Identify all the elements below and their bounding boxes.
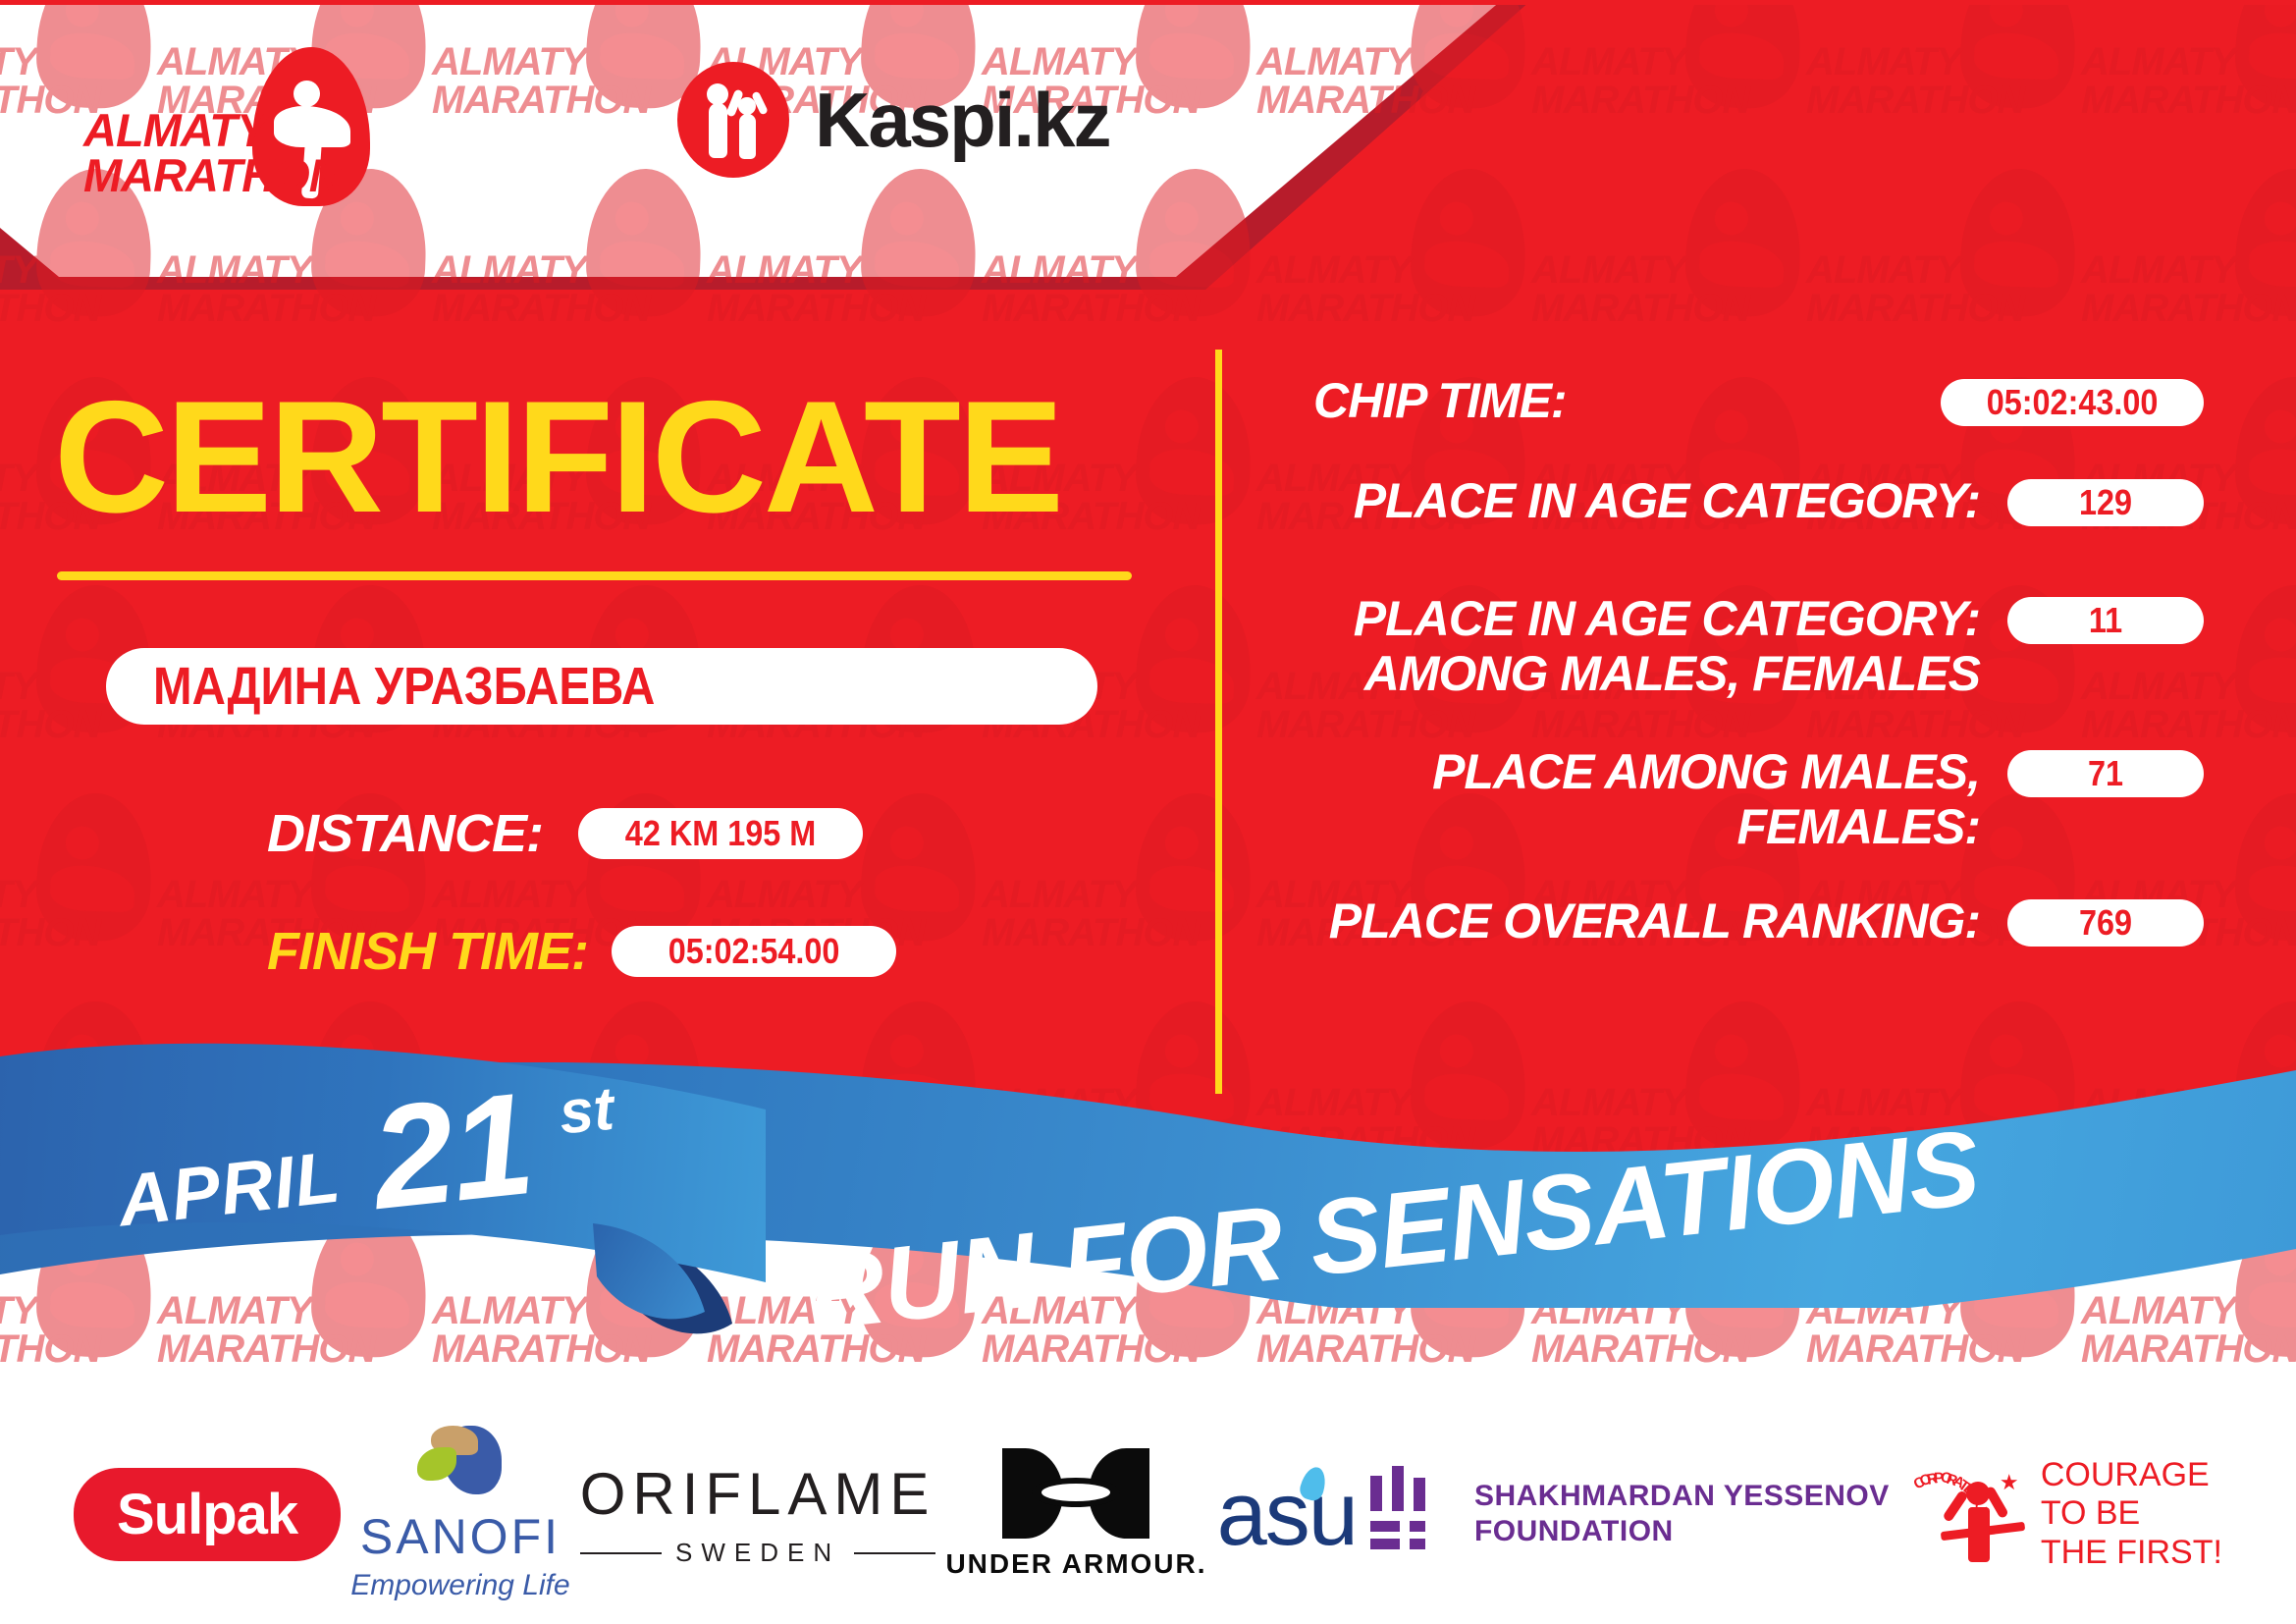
stat-value: 129 (2079, 482, 2132, 523)
stats-list: CHIP TIME: 05:02:43.00 PLACE IN AGE CATE… (1286, 373, 2204, 978)
title-underline (57, 571, 1132, 580)
distance-value-pill: 42 KM 195 M (578, 808, 863, 859)
sponsor-asu: asu (1217, 1463, 1357, 1566)
event-ribbon: APRIL 21 st RUN FOR SENSATIONS (0, 1041, 2296, 1424)
stat-value: 769 (2079, 902, 2132, 944)
yessenov-bars-icon (1366, 1466, 1449, 1562)
finish-time-value: 05:02:54.00 (668, 931, 840, 972)
stat-label: PLACE IN AGE CATEGORY:AMONG MALES, FEMAL… (1286, 591, 2007, 701)
courage-fund-icon: CORPORATE FUND ★ (1899, 1456, 2027, 1572)
sponsor-sanofi: SANOFI Empowering Life (350, 1426, 569, 1602)
logo-line-1: ALMATY (83, 108, 260, 153)
oriflame-logo-text: ORIFLAME (580, 1460, 936, 1528)
certificate-page: ALMATYMARATHONALMATYMARATHONALMATYMARATH… (0, 0, 2296, 1624)
kaspi-logo-text: Kaspi.kz (815, 76, 1109, 165)
vertical-divider (1215, 350, 1222, 1094)
stat-label: PLACE AMONG MALES,FEMALES: (1286, 744, 2007, 854)
oriflame-rule-left (580, 1552, 662, 1554)
ribbon-day-ordinal: st (557, 1074, 616, 1149)
stat-value: 05:02:43.00 (1987, 382, 2159, 423)
stat-value-pill: 769 (2007, 899, 2204, 947)
almaty-marathon-logo: ALMATY MARATHON (83, 47, 407, 204)
oriflame-sub-text: SWEDEN (675, 1538, 840, 1568)
sponsor-yessenov-foundation: SHAKHMARDAN YESSENOVFOUNDATION (1366, 1466, 1890, 1562)
sponsor-courage-fund: CORPORATE FUND ★ COURAGETO BETHE FIRST! (1899, 1456, 2222, 1572)
almaty-marathon-logo-text: ALMATY MARATHON (83, 108, 260, 198)
yessenov-logo-text: SHAKHMARDAN YESSENOVFOUNDATION (1474, 1479, 1890, 1549)
oriflame-rule-right (854, 1552, 935, 1554)
sponsor-oriflame: ORIFLAME SWEDEN (580, 1460, 936, 1568)
stat-value-pill: 05:02:43.00 (1941, 379, 2204, 426)
stat-row-place-age-category-gender: PLACE IN AGE CATEGORY:AMONG MALES, FEMAL… (1286, 591, 2204, 701)
stat-value: 71 (2088, 753, 2123, 794)
distance-label: DISTANCE: (267, 803, 543, 864)
sponsor-sulpak: Sulpak (74, 1468, 341, 1561)
sulpak-logo-text: Sulpak (74, 1468, 341, 1561)
finish-time-row: FINISH TIME: 05:02:54.00 (267, 921, 896, 982)
stat-label: PLACE IN AGE CATEGORY: (1286, 473, 2007, 528)
stat-value: 11 (2089, 600, 2122, 641)
stat-label: PLACE OVERALL RANKING: (1286, 893, 2007, 948)
sanofi-tagline: Empowering Life (350, 1569, 569, 1602)
finish-time-label: FINISH TIME: (267, 921, 588, 982)
courage-fund-logo-text: COURAGETO BETHE FIRST! (2041, 1456, 2222, 1572)
kaspi-logo: Kaspi.kz (677, 61, 1109, 179)
logo-line-2: MARATHON (83, 153, 260, 198)
sanofi-leaf-icon (413, 1426, 507, 1502)
ribbon-day: 21 (365, 1060, 540, 1243)
participant-name: МАДИНА УРАЗБАЕВА (153, 656, 655, 717)
stat-row-place-age-category: PLACE IN AGE CATEGORY: 129 (1286, 473, 2204, 548)
stat-label: CHIP TIME: (1286, 373, 1941, 428)
stat-value-pill: 71 (2007, 750, 2204, 797)
sanofi-logo-text: SANOFI (360, 1508, 561, 1565)
under-armour-icon (1002, 1448, 1149, 1539)
asu-logo-text: asu (1217, 1463, 1357, 1566)
kaspi-people-icon (677, 62, 789, 178)
distance-row: DISTANCE: 42 KM 195 M (267, 803, 863, 864)
stat-row-place-among-gender: PLACE AMONG MALES,FEMALES: 71 (1286, 744, 2204, 854)
distance-value: 42 KM 195 M (625, 813, 816, 854)
top-border-rule (0, 0, 2296, 5)
stat-row-place-overall: PLACE OVERALL RANKING: 769 (1286, 893, 2204, 952)
stat-value-pill: 11 (2007, 597, 2204, 644)
under-armour-logo-text: UNDER ARMOUR. (945, 1548, 1206, 1580)
stat-row-chip-time: CHIP TIME: 05:02:43.00 (1286, 373, 2204, 448)
finish-time-value-pill: 05:02:54.00 (612, 926, 896, 977)
page-title: CERTIFICATE (54, 378, 1061, 537)
stat-value-pill: 129 (2007, 479, 2204, 526)
participant-name-field: МАДИНА УРАЗБАЕВА (106, 648, 1097, 725)
sponsor-bar: Sulpak SANOFI Empowering Life ORIFLAME S… (0, 1404, 2296, 1624)
sponsor-under-armour: UNDER ARMOUR. (945, 1448, 1206, 1580)
